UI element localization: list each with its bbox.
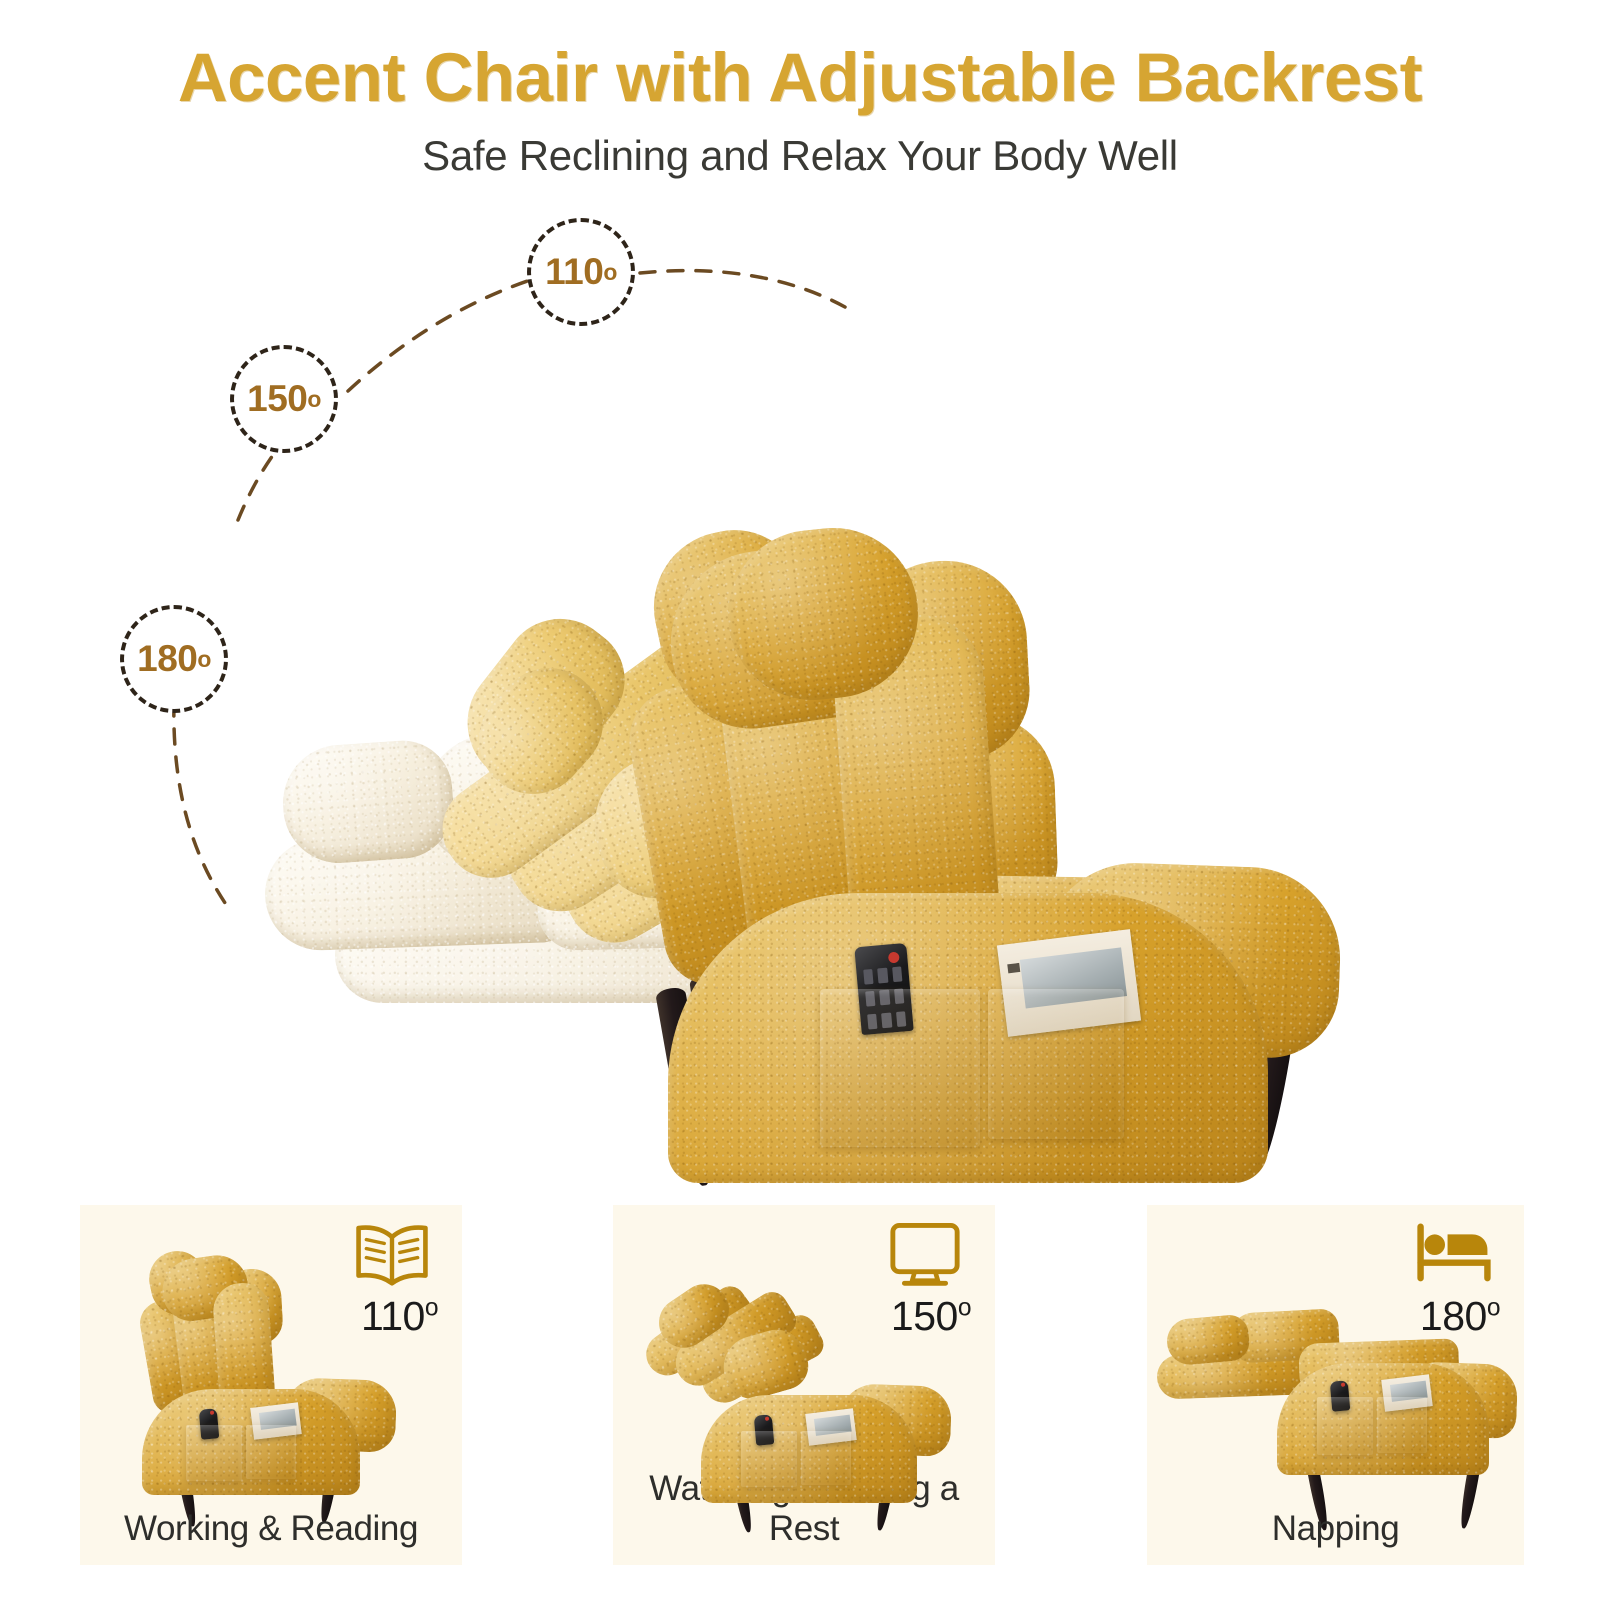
card0-angle-value: 110	[361, 1293, 425, 1339]
page-title: Accent Chair with Adjustable Backrest	[0, 42, 1600, 114]
card0-angle: 110o	[361, 1293, 438, 1340]
mini-pocket-left	[741, 1431, 797, 1487]
hero-stage: 110o 150o 180o	[0, 195, 1600, 1205]
card2-caption: Napping	[1147, 1509, 1524, 1549]
card0-caption: Working & Reading	[80, 1509, 462, 1549]
bed-icon	[1412, 1219, 1496, 1291]
angle-badge-180-value: 180	[137, 638, 197, 680]
side-pocket-left	[820, 989, 980, 1147]
angle-badge-180: 180o	[120, 605, 228, 713]
card2-angle: 180o	[1420, 1293, 1500, 1340]
degree-symbol: o	[958, 1294, 971, 1321]
angle-badge-150-value: 150	[247, 378, 307, 420]
mini-remote-power	[1341, 1383, 1345, 1387]
product-infographic: Accent Chair with Adjustable Backrest Sa…	[0, 0, 1600, 1600]
side-pocket-right	[988, 989, 1124, 1139]
monitor-icon	[883, 1219, 967, 1291]
card1-angle: 150o	[891, 1293, 971, 1340]
usage-scenario-cards: 110o Working & Reading	[0, 1205, 1600, 1567]
mini-pocket-right	[246, 1425, 296, 1479]
mini-pocket-left	[1317, 1397, 1373, 1455]
angle-badge-110-value: 110	[545, 251, 603, 293]
open-book-icon	[350, 1219, 434, 1291]
mini-remote-power	[210, 1411, 214, 1415]
magazine-barcode	[1007, 963, 1020, 974]
card1-angle-value: 150	[891, 1293, 958, 1339]
mini-pocket-right	[1377, 1397, 1427, 1453]
angle-badge-150: 150o	[230, 345, 338, 453]
mini-pocket-right	[801, 1431, 851, 1485]
degree-symbol: o	[1487, 1294, 1500, 1321]
scenario-card-working-reading[interactable]: 110o Working & Reading	[80, 1205, 462, 1565]
ghost-headrest	[279, 737, 457, 867]
card2-angle-value: 180	[1420, 1293, 1487, 1339]
mini-remote-power	[765, 1417, 769, 1421]
header: Accent Chair with Adjustable Backrest Sa…	[0, 0, 1600, 180]
degree-symbol: o	[425, 1294, 438, 1321]
angle-badge-110: 110o	[527, 218, 635, 326]
main-chair-110	[610, 325, 1370, 1205]
scenario-card-napping[interactable]: 180o Napping	[1147, 1205, 1524, 1565]
remote-power-button	[888, 951, 900, 963]
scenario-card-watching-resting[interactable]: 150o Watching & Taking a Rest	[613, 1205, 995, 1565]
mini-flat-headrest	[1165, 1314, 1251, 1367]
mini-pocket-left	[186, 1425, 242, 1481]
page-subtitle: Safe Reclining and Relax Your Body Well	[0, 132, 1600, 180]
